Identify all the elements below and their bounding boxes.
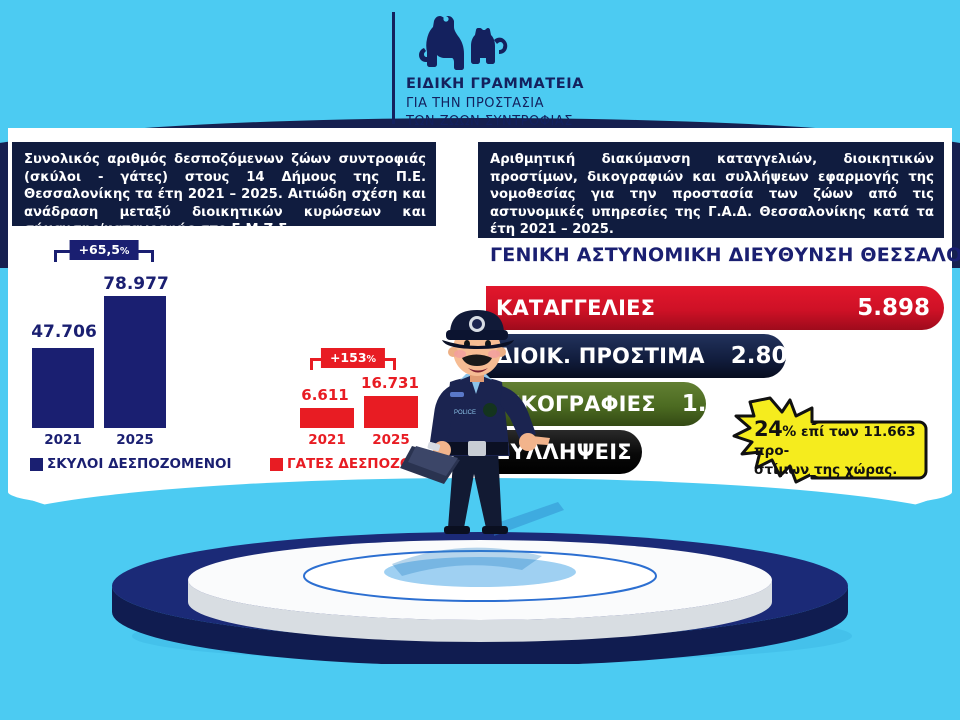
cats-delta-pill: +153% bbox=[321, 348, 385, 368]
legend-dogs-swatch bbox=[30, 458, 43, 471]
policeman-figure: POLICE bbox=[398, 300, 574, 552]
right-panel: Αριθμητική διακύμανση καταγγελιών, διοικ… bbox=[478, 142, 944, 238]
logo-line-2: ΓΙΑ ΤΗΝ ΠΡΟΣΤΑΣΙΑ bbox=[406, 96, 544, 111]
callout-percent: 24 bbox=[754, 417, 782, 441]
left-panel: Συνολικός αριθμός δεσποζόμενων ζώων συντ… bbox=[12, 142, 458, 226]
legend-cats-swatch bbox=[270, 458, 283, 471]
pets-charts-area: +65,5% 47.706 78.977 2021 2025 ΣΚΥΛΟΙ ΔΕ… bbox=[12, 238, 458, 488]
country-share-callout: 24% επί των 11.663 προ- στίμων της χώρας… bbox=[716, 396, 932, 484]
dogs-2021-bar bbox=[32, 348, 94, 428]
dogs-2021-value: 47.706 bbox=[24, 322, 104, 342]
dog-cat-silhouette-icon bbox=[406, 8, 536, 70]
police-bar-fines-value: 2.803 bbox=[731, 343, 804, 369]
svg-text:POLICE: POLICE bbox=[454, 410, 476, 416]
logo-line-1: ΕΙΔΙΚΗ ΓΡΑΜΜΑΤΕΙΑ bbox=[406, 76, 584, 92]
police-section-title: ΓΕΝΙΚΗ ΑΣΤΥΝΟΜΙΚΗ ΔΙΕΥΘΥΝΣΗ ΘΕΣΣΑΛΟΝΙΚΗΣ bbox=[490, 244, 960, 266]
cats-delta-symbol: % bbox=[367, 354, 377, 365]
cats-2021-bar-holder bbox=[300, 408, 354, 428]
police-bar-complaints-value: 5.898 bbox=[857, 295, 930, 321]
dogs-2021-year: 2021 bbox=[32, 432, 94, 448]
dogs-2025-value: 78.977 bbox=[90, 274, 182, 294]
police-bar-arrests-value: 79 bbox=[642, 439, 674, 465]
cats-2021-value: 6.611 bbox=[292, 386, 358, 404]
legend-dogs-label: ΣΚΥΛΟΙ ΔΕΣΠΟΖΟΜΕΝΟΙ bbox=[47, 456, 232, 472]
cats-delta-annotation: +153% bbox=[310, 348, 396, 374]
dogs-2025-year: 2025 bbox=[104, 432, 166, 448]
logo-divider-rule bbox=[392, 12, 395, 124]
dogs-delta-value: +65,5 bbox=[79, 242, 120, 257]
chart-dogs: +65,5% 47.706 78.977 2021 2025 ΣΚΥΛΟΙ ΔΕ… bbox=[12, 238, 212, 488]
callout-percent-symbol: % bbox=[782, 424, 796, 440]
cats-2021-bar bbox=[300, 408, 354, 428]
dogs-delta-pill: +65,5% bbox=[70, 240, 139, 260]
callout-text: 24% επί των 11.663 προ- στίμων της χώρας… bbox=[754, 420, 930, 480]
cats-delta-value: +153 bbox=[330, 350, 367, 365]
organization-logo: ΕΙΔΙΚΗ ΓΡΑΜΜΑΤΕΙΑ ΓΙΑ ΤΗΝ ΠΡΟΣΤΑΣΙΑ ΤΩΝ … bbox=[392, 8, 602, 126]
logo-line-3: ΤΩΝ ΖΩΩΝ ΣΥΝΤΡΟΦΙΑΣ bbox=[406, 114, 573, 129]
legend-dogs: ΣΚΥΛΟΙ ΔΕΣΠΟΖΟΜΕΝΟΙ bbox=[30, 456, 232, 472]
dogs-delta-symbol: % bbox=[120, 246, 130, 257]
dogs-delta-annotation: +65,5% bbox=[54, 240, 154, 266]
cats-2021-year: 2021 bbox=[300, 432, 354, 448]
right-panel-heading: Αριθμητική διακύμανση καταγγελιών, διοικ… bbox=[478, 142, 944, 238]
dogs-2025-bar bbox=[104, 296, 166, 428]
infographic-root: ΕΙΔΙΚΗ ΓΡΑΜΜΑΤΕΙΑ ΓΙΑ ΤΗΝ ΠΡΟΣΤΑΣΙΑ ΤΩΝ … bbox=[0, 0, 960, 720]
left-panel-heading: Συνολικός αριθμός δεσποζόμενων ζώων συντ… bbox=[12, 142, 436, 226]
dogs-2021-bar-holder bbox=[32, 348, 94, 428]
callout-line2: στίμων της χώρας. bbox=[754, 462, 897, 478]
dogs-2025-bar-holder bbox=[104, 296, 166, 428]
